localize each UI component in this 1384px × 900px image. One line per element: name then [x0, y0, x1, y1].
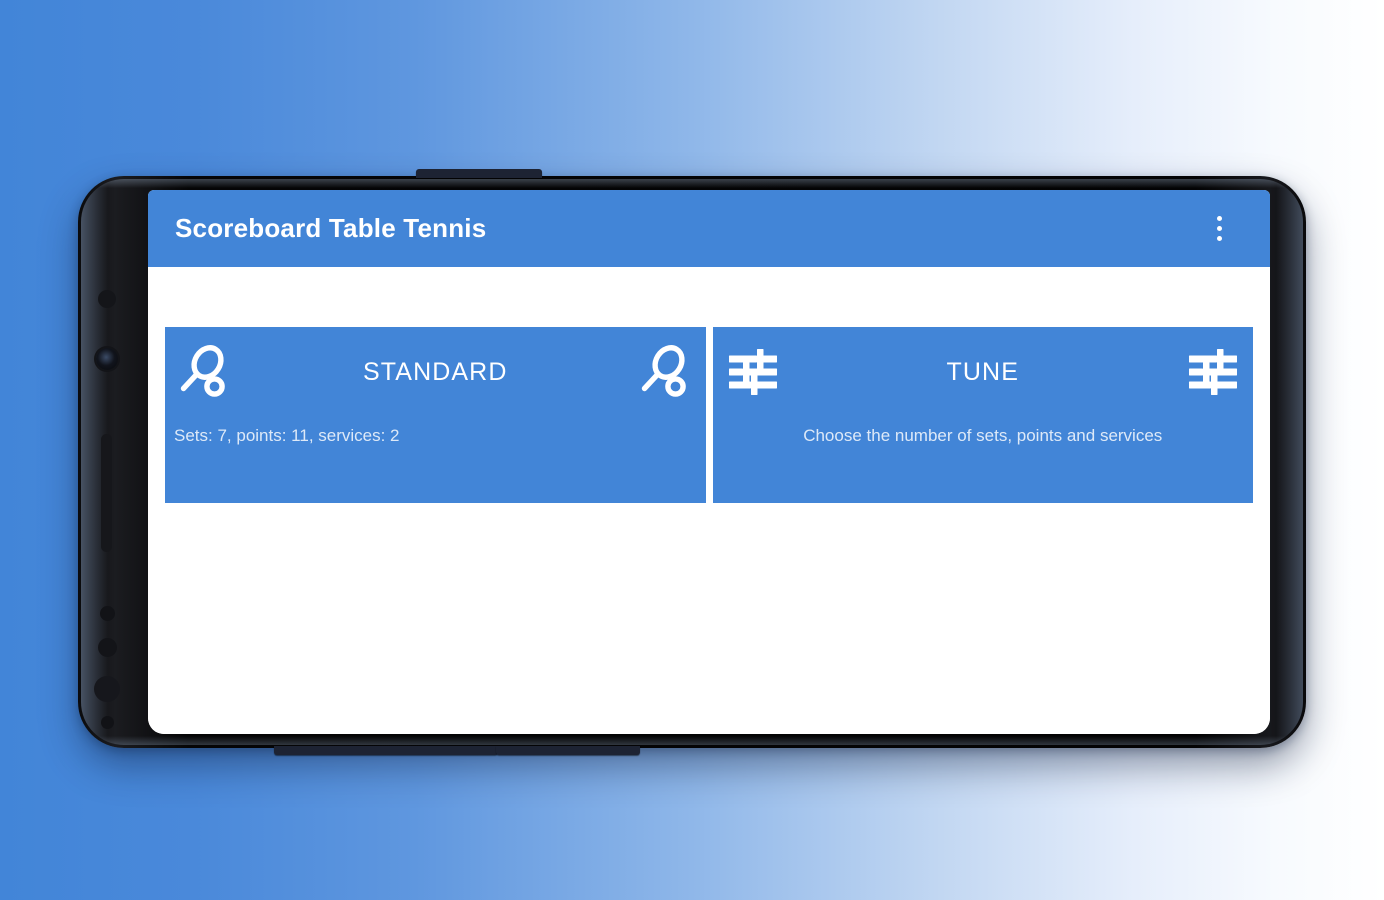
app-content: STANDARD Sets: 7, points: 11, se — [148, 267, 1270, 734]
racket-ball-icon — [174, 341, 236, 403]
more-vert-icon[interactable] — [1206, 211, 1232, 247]
mode-cards-row: STANDARD Sets: 7, points: 11, se — [165, 327, 1253, 503]
app-bar: Scoreboard Table Tennis — [148, 190, 1270, 267]
tune-card-subtitle: Choose the number of sets, points and se… — [722, 426, 1245, 446]
more-dot-2 — [1217, 226, 1222, 231]
racket-ball-icon — [635, 341, 697, 403]
tune-mode-card[interactable]: TUNE — [713, 327, 1254, 503]
more-dot-1 — [1217, 216, 1222, 221]
phone-button-volume[interactable] — [274, 746, 498, 755]
standard-card-subtitle: Sets: 7, points: 11, services: 2 — [174, 426, 697, 446]
phone-device-frame: Scoreboard Table Tennis — [78, 176, 1306, 748]
tune-card-title: TUNE — [784, 358, 1183, 387]
sensor-dot-2-icon — [98, 638, 117, 657]
page-title: Scoreboard Table Tennis — [175, 213, 486, 244]
sensor-dot-4-icon — [101, 716, 114, 729]
phone-button-top[interactable] — [416, 169, 542, 178]
standard-mode-card[interactable]: STANDARD Sets: 7, points: 11, se — [165, 327, 706, 503]
tune-sliders-icon — [722, 341, 784, 403]
standard-card-title: STANDARD — [236, 358, 635, 387]
tune-sliders-icon — [1182, 341, 1244, 403]
phone-button-power[interactable] — [496, 746, 640, 755]
phone-screen: Scoreboard Table Tennis — [148, 190, 1270, 734]
sensor-dot-1-icon — [100, 606, 115, 621]
tune-card-header: TUNE — [713, 327, 1254, 407]
more-dot-3 — [1217, 236, 1222, 241]
sensor-dot-3-icon — [94, 676, 120, 702]
proximity-sensor-icon — [98, 290, 116, 308]
standard-card-header: STANDARD — [165, 327, 706, 407]
front-camera-icon — [96, 348, 118, 370]
earpiece-speaker — [101, 434, 112, 552]
